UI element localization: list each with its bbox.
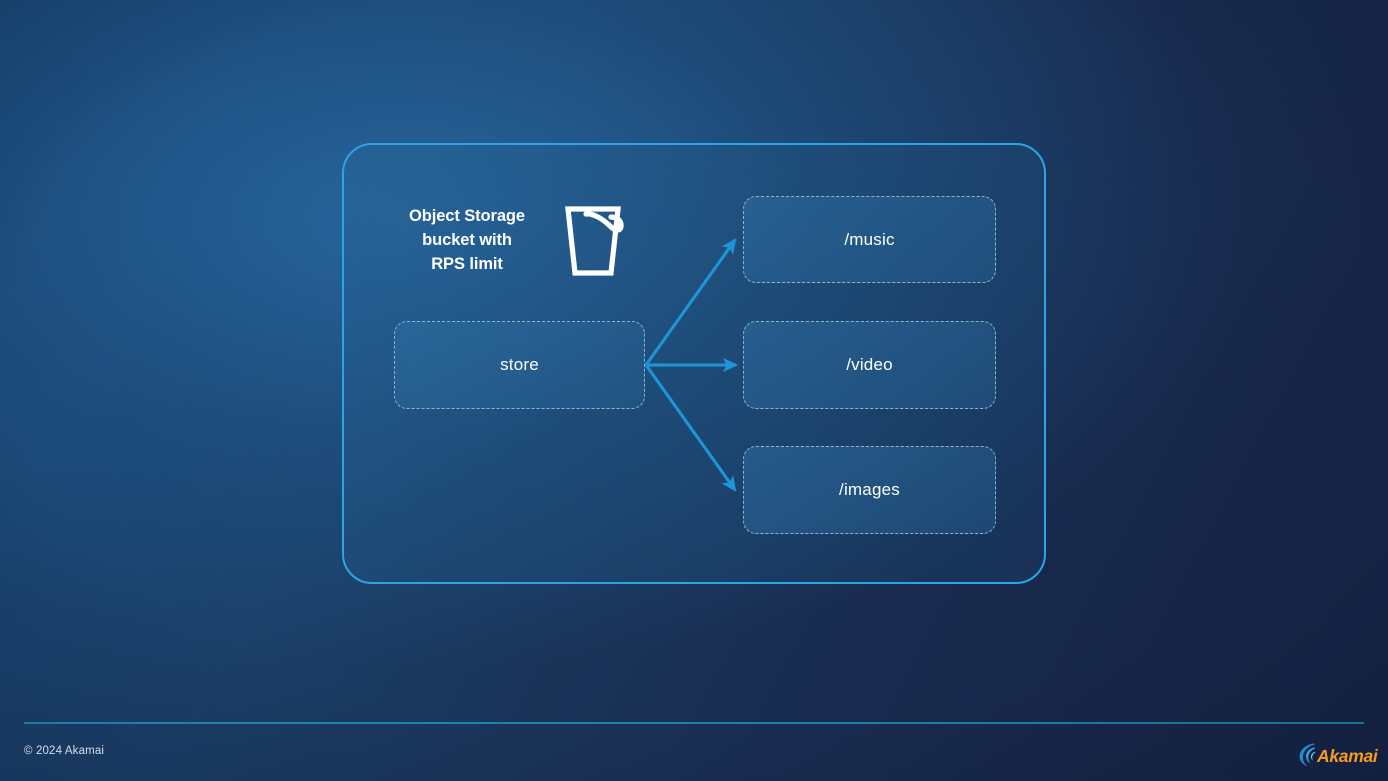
slide-canvas: Object Storage bucket with RPS limit sto…: [0, 0, 1388, 781]
bucket-label-group: Object Storage bucket with RPS limit: [392, 196, 647, 284]
akamai-wordmark: Akamai: [1316, 746, 1379, 766]
akamai-wave-mark: [1300, 743, 1316, 766]
storage-bucket-icon: [562, 200, 638, 280]
akamai-logo: Akamai: [1297, 741, 1381, 769]
node-video[interactable]: /video: [743, 321, 996, 409]
node-images[interactable]: /images: [743, 446, 996, 534]
node-store[interactable]: store: [394, 321, 645, 409]
footer-divider: [24, 722, 1364, 724]
footer-copyright: © 2024 Akamai: [24, 745, 104, 757]
bucket-label-text: Object Storage bucket with RPS limit: [392, 204, 542, 277]
node-music[interactable]: /music: [743, 196, 996, 283]
